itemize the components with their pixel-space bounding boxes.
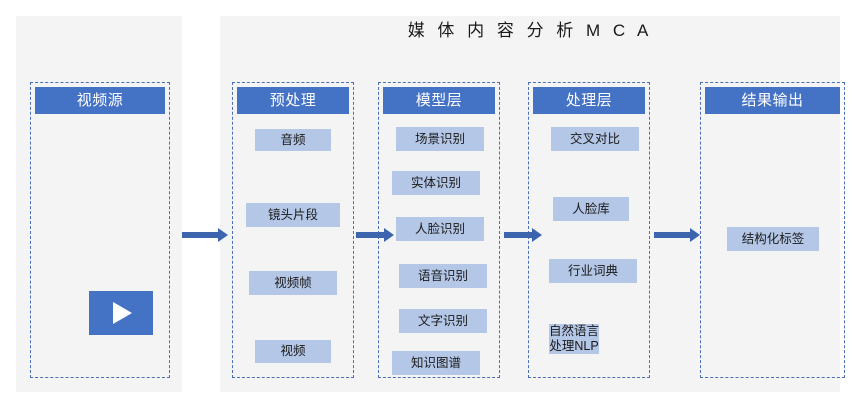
item-box[interactable]: 自然语言 处理NLP	[549, 324, 599, 354]
item-box[interactable]: 行业词典	[549, 259, 637, 283]
video-play-thumbnail-icon[interactable]	[89, 291, 153, 335]
arrow-processing-to-result	[654, 228, 702, 242]
arrow-preprocess-to-model	[356, 228, 396, 242]
stage-preprocess[interactable]: 预处理 音频 镜头片段 视频帧 视频	[232, 82, 354, 378]
arrow-shaft	[356, 232, 384, 238]
item-box[interactable]: 音频	[255, 129, 331, 151]
item-box[interactable]: 场景识别	[396, 127, 484, 151]
arrow-video-to-preprocess	[182, 228, 228, 242]
item-box[interactable]: 视频	[255, 340, 331, 363]
arrow-model-to-processing	[504, 228, 544, 242]
item-box[interactable]: 知识图谱	[392, 351, 480, 375]
item-box[interactable]: 文字识别	[399, 309, 487, 333]
item-box[interactable]: 视频帧	[249, 271, 337, 295]
item-box[interactable]: 结构化标签	[727, 227, 819, 251]
arrow-shaft	[182, 232, 218, 238]
stage-header-result-output: 结果输出	[705, 87, 840, 114]
stage-video-source[interactable]: 视频源	[30, 82, 170, 378]
stage-header-model-layer: 模型层	[383, 87, 495, 114]
item-box[interactable]: 人脸库	[553, 197, 629, 221]
diagram-canvas: 媒 体 内 容 分 析 M C A 视频源 预处理 音频 镜头片段 视频帧 视频…	[0, 0, 859, 411]
stage-model-layer[interactable]: 模型层 场景识别 实体识别 人脸识别 语音识别 文字识别 知识图谱	[378, 82, 500, 378]
stage-header-preprocess: 预处理	[237, 87, 349, 114]
stage-header-processing-layer: 处理层	[533, 87, 645, 114]
stage-header-video-source: 视频源	[35, 87, 165, 114]
arrow-shaft	[504, 232, 532, 238]
item-box[interactable]: 人脸识别	[396, 217, 484, 241]
play-triangle-icon	[113, 302, 132, 324]
item-box[interactable]: 实体识别	[392, 171, 480, 195]
stage-processing-layer[interactable]: 处理层 交叉对比 人脸库 行业词典 自然语言 处理NLP	[528, 82, 650, 378]
item-box[interactable]: 交叉对比	[551, 127, 639, 151]
arrow-head	[218, 228, 228, 242]
arrow-head	[532, 228, 542, 242]
item-box[interactable]: 语音识别	[399, 264, 487, 288]
page-title: 媒 体 内 容 分 析 M C A	[220, 18, 840, 44]
arrow-head	[384, 228, 394, 242]
stage-result-output[interactable]: 结果输出 结构化标签	[700, 82, 845, 378]
arrow-shaft	[654, 232, 690, 238]
arrow-head	[690, 228, 700, 242]
item-box[interactable]: 镜头片段	[246, 203, 340, 227]
